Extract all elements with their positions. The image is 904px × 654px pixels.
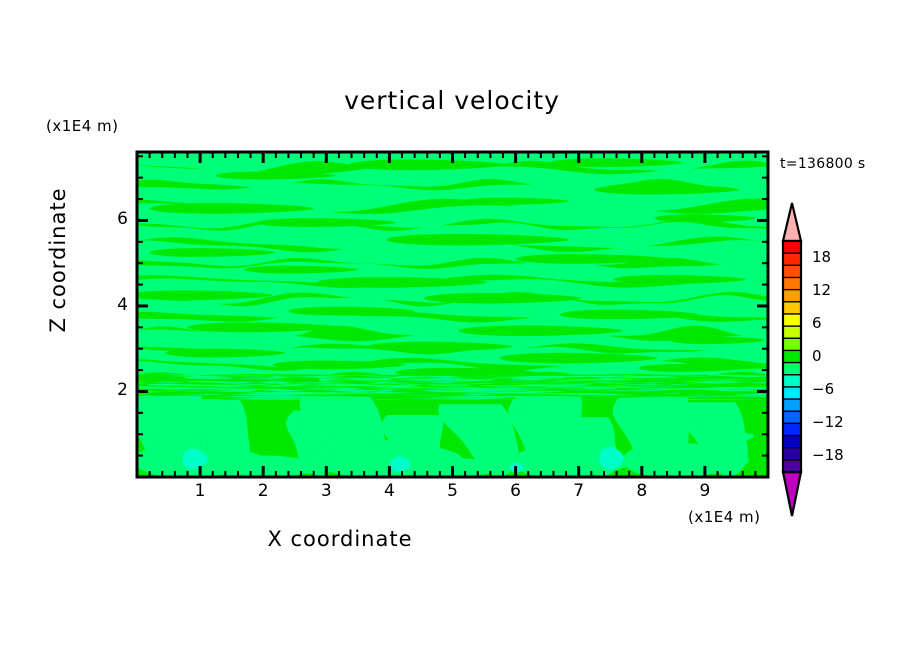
- colorbar-tick-label: −12: [812, 413, 858, 431]
- colorbar-tick-label: 0: [812, 347, 858, 365]
- x-tick-label: 6: [501, 481, 531, 501]
- plot-canvas: [0, 0, 904, 654]
- colorbar-tick-label: −18: [812, 446, 858, 464]
- x-tick-label: 2: [248, 481, 278, 501]
- x-tick-label: 1: [185, 481, 215, 501]
- contour-field: [126, 148, 768, 477]
- x-tick-label: 4: [374, 481, 404, 501]
- x-tick-label: 8: [627, 481, 657, 501]
- colorbar: [783, 203, 801, 516]
- colorbar-tick-label: −6: [812, 380, 858, 398]
- x-tick-label: 7: [564, 481, 594, 501]
- x-tick-label: 3: [311, 481, 341, 501]
- figure-root: vertical velocity (x1E4 m) (x1E4 m) X co…: [0, 0, 904, 654]
- x-tick-label: 5: [438, 481, 468, 501]
- colorbar-tick-label: 6: [812, 314, 858, 332]
- y-tick-label: 2: [104, 380, 128, 400]
- colorbar-tick-label: 18: [812, 248, 858, 266]
- colorbar-tick-label: 12: [812, 281, 858, 299]
- x-tick-label: 9: [690, 481, 720, 501]
- y-tick-label: 6: [104, 209, 128, 229]
- y-tick-label: 4: [104, 295, 128, 315]
